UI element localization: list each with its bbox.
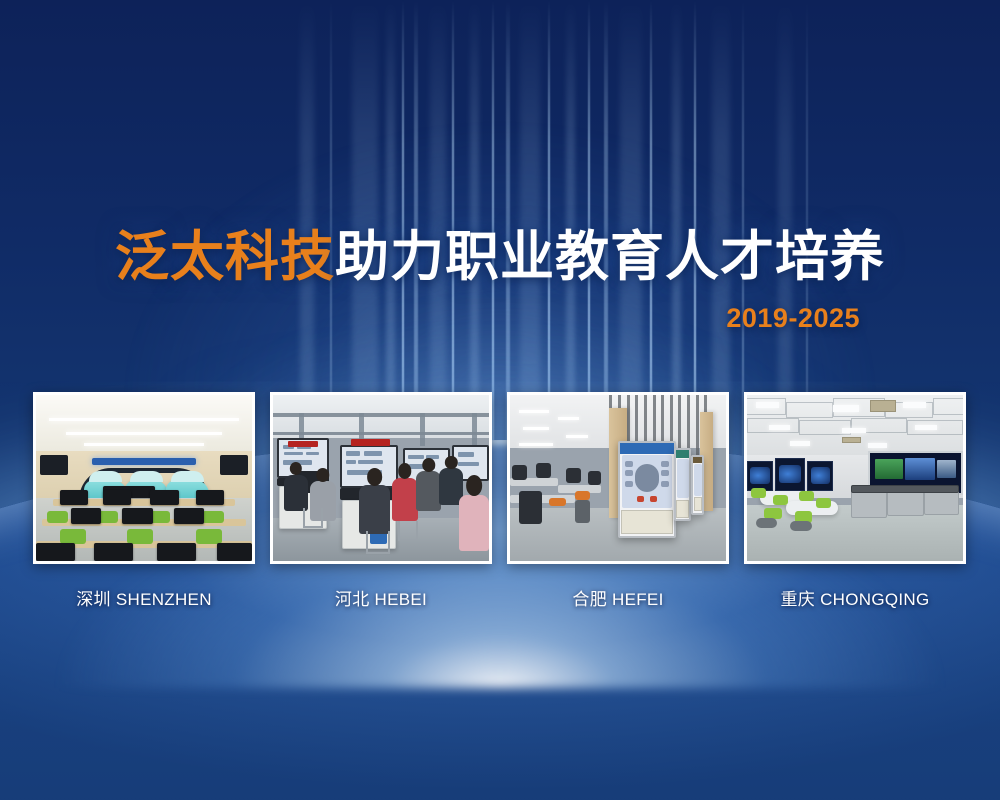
- banner-stage: 泛太科技助力职业教育人才培养 2019-2025: [0, 0, 1000, 800]
- headline-block: 泛太科技助力职业教育人才培养 2019-2025: [0, 228, 1000, 334]
- gallery-photo-shenzhen[interactable]: [33, 392, 255, 564]
- photo-captions: 深圳 SHENZHEN 河北 HEBEI 合肥 HEFEI 重庆 CHONGQI…: [33, 585, 968, 610]
- photo-scene-hebei: [273, 395, 489, 561]
- photo-scene-chongqing: [747, 395, 963, 561]
- page-title: 泛太科技助力职业教育人才培养: [0, 228, 1000, 287]
- photo-scene-hefei: [510, 395, 726, 561]
- caption-hebei: 河北 HEBEI: [270, 585, 492, 610]
- caption-shenzhen: 深圳 SHENZHEN: [33, 585, 255, 610]
- photo-scene-shenzhen: [36, 395, 252, 561]
- caption-hefei: 合肥 HEFEI: [507, 585, 729, 610]
- brand-name: 泛太科技: [115, 227, 335, 287]
- caption-chongqing: 重庆 CHONGQING: [744, 585, 966, 610]
- photo-gallery: [33, 392, 968, 564]
- gallery-photo-hefei[interactable]: [507, 392, 729, 564]
- gallery-photo-hebei[interactable]: [270, 392, 492, 564]
- title-rest: 助力职业教育人才培养: [335, 227, 885, 287]
- gallery-photo-chongqing[interactable]: [744, 392, 966, 564]
- year-range: 2019-2025: [0, 303, 1000, 334]
